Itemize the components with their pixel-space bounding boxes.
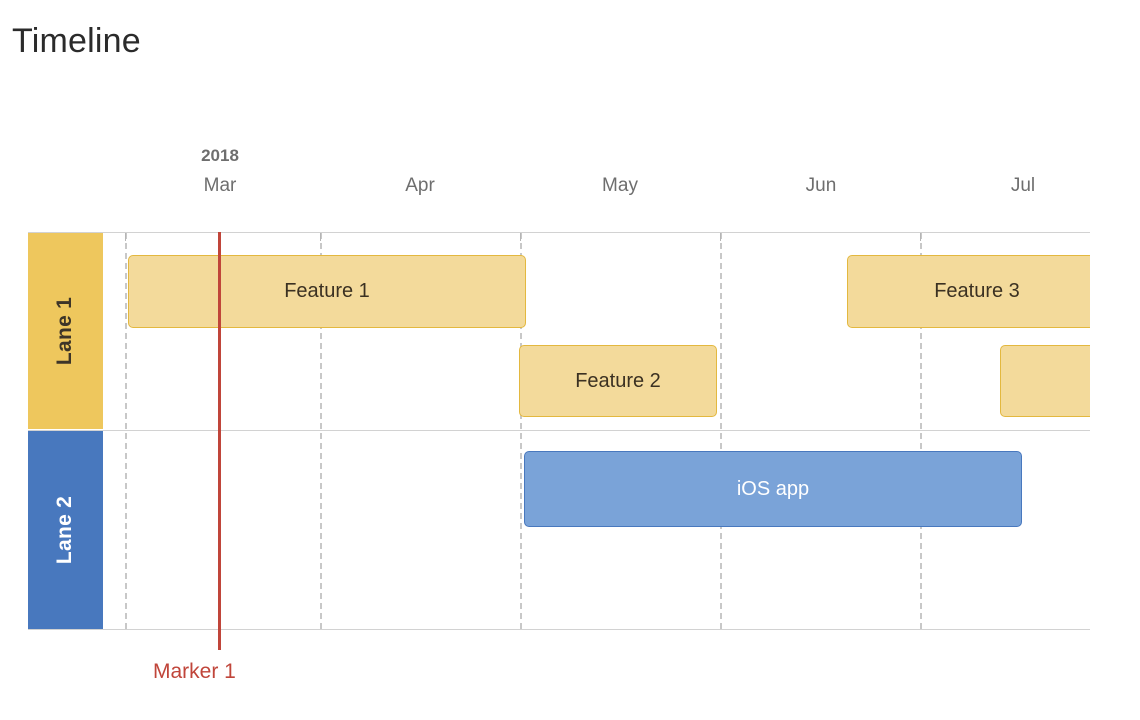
axis-month-label-mar: Mar — [204, 175, 237, 197]
axis-month-label-jul: Jul — [1011, 175, 1035, 197]
plot-bottom-border — [28, 629, 1090, 630]
task-bar-label: Feature 2 — [575, 370, 661, 393]
axis-tick-4 — [920, 233, 921, 241]
lane-header-label: Lane 1 — [53, 297, 77, 365]
gridline-0 — [125, 233, 127, 629]
axis-year-label: 2018 — [201, 146, 239, 166]
axis-month-label-may: May — [602, 175, 638, 197]
page-title: Timeline — [12, 22, 141, 61]
lane-header-lane-1[interactable]: Lane 1 — [28, 233, 103, 429]
task-bar-label: iOS app — [737, 478, 809, 501]
axis-tick-1 — [320, 233, 321, 241]
task-bar-ios-app[interactable]: iOS app — [524, 451, 1022, 527]
task-tracks: Feature 1Feature 3Feature 2iOS app — [103, 233, 1090, 629]
task-bar-label: Feature 1 — [284, 280, 370, 303]
gantt-plot-area: Lane 1 Lane 2 Feature 1Feature 3Feature … — [28, 232, 1090, 630]
task-bar-untitled-3[interactable] — [1000, 345, 1090, 417]
task-bar-feature-1[interactable]: Feature 1 — [128, 255, 526, 328]
task-bar-feature-3[interactable]: Feature 3 — [847, 255, 1090, 328]
task-bar-feature-2[interactable]: Feature 2 — [519, 345, 717, 417]
task-bar-label: Feature 3 — [934, 280, 1020, 303]
marker-line[interactable] — [218, 232, 221, 650]
axis-tick-2 — [520, 233, 521, 241]
axis-tick-3 — [720, 233, 721, 241]
lane-header-label: Lane 2 — [53, 496, 77, 564]
marker-label: Marker 1 — [153, 660, 236, 684]
axis-month-label-apr: Apr — [405, 175, 435, 197]
gridline-3 — [720, 233, 722, 629]
time-axis: 2018 MarAprMayJunJul — [0, 140, 1140, 210]
axis-month-label-jun: Jun — [806, 175, 837, 197]
lane-header-lane-2[interactable]: Lane 2 — [28, 431, 103, 629]
axis-tick-0 — [125, 233, 126, 241]
